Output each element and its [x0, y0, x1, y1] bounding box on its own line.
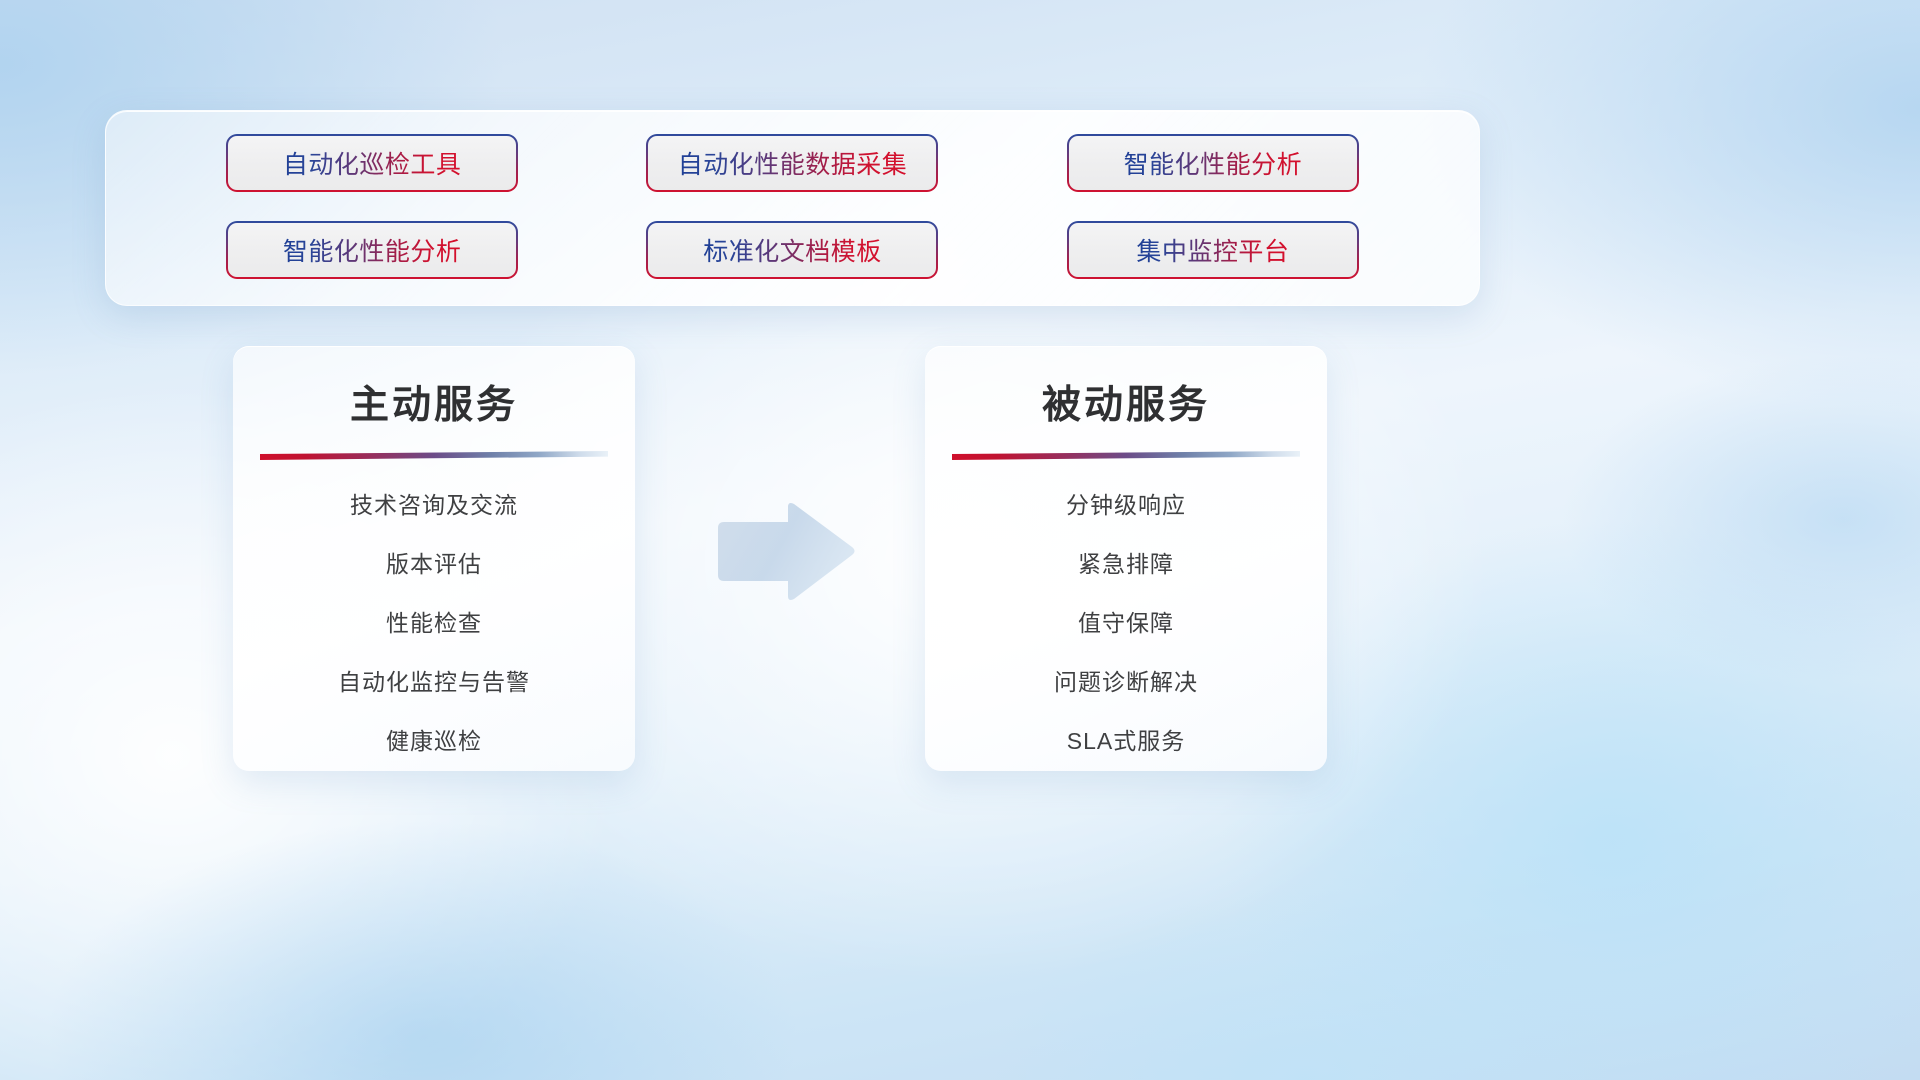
- service-card-proactive: 主动服务 技术咨询及交流 版本评估 性能检查 自动化监控与告警 健康巡检: [233, 346, 635, 771]
- service-card-proactive-divider: [260, 451, 608, 460]
- arrow-right-icon: [712, 500, 857, 605]
- list-item: 分钟级响应: [1066, 494, 1186, 517]
- service-card-proactive-list: 技术咨询及交流 版本评估 性能检查 自动化监控与告警 健康巡检: [259, 494, 609, 753]
- list-item: 自动化监控与告警: [338, 671, 530, 694]
- list-item: 问题诊断解决: [1054, 671, 1198, 694]
- capability-tag-6[interactable]: 集中监控平台: [1067, 221, 1359, 279]
- list-item: 值守保障: [1078, 612, 1174, 635]
- capability-tag-1-surface: 自动化巡检工具: [228, 136, 516, 190]
- capability-tag-2-label: 自动化性能数据采集: [678, 145, 908, 181]
- service-card-proactive-title: 主动服务: [259, 386, 609, 425]
- capability-tag-3[interactable]: 智能化性能分析: [1067, 134, 1359, 192]
- capability-tag-4-label: 智能化性能分析: [283, 232, 462, 268]
- capability-tag-6-label: 集中监控平台: [1136, 232, 1289, 268]
- list-item: 版本评估: [386, 553, 482, 576]
- capability-tag-3-label: 智能化性能分析: [1124, 145, 1303, 181]
- flow-connector: [712, 500, 857, 605]
- list-item: 健康巡检: [386, 730, 482, 753]
- list-item: SLA式服务: [1067, 730, 1185, 753]
- capability-tag-5[interactable]: 标准化文档模板: [646, 221, 938, 279]
- capability-tag-1-label: 自动化巡检工具: [283, 145, 462, 181]
- service-card-reactive-divider: [952, 451, 1300, 460]
- list-item: 紧急排障: [1078, 553, 1174, 576]
- diagram-stage: 自动化巡检工具 自动化性能数据采集 智能化性能分析 智能化性能分析 标准化文档模…: [0, 0, 1920, 1080]
- service-card-reactive: 被动服务 分钟级响应 紧急排障 值守保障 问题诊断解决 SLA式服务: [925, 346, 1327, 771]
- capability-tag-5-label: 标准化文档模板: [703, 232, 882, 268]
- capability-tag-6-surface: 集中监控平台: [1069, 223, 1357, 277]
- capability-tag-2-surface: 自动化性能数据采集: [648, 136, 936, 190]
- list-item: 技术咨询及交流: [350, 494, 518, 517]
- capability-tag-1[interactable]: 自动化巡检工具: [226, 134, 518, 192]
- list-item: 性能检查: [386, 612, 482, 635]
- capability-tag-4-surface: 智能化性能分析: [228, 223, 516, 277]
- capability-tag-2[interactable]: 自动化性能数据采集: [646, 134, 938, 192]
- capability-tag-4[interactable]: 智能化性能分析: [226, 221, 518, 279]
- capability-tag-3-surface: 智能化性能分析: [1069, 136, 1357, 190]
- service-card-reactive-list: 分钟级响应 紧急排障 值守保障 问题诊断解决 SLA式服务: [951, 494, 1301, 753]
- capability-tags-panel: 自动化巡检工具 自动化性能数据采集 智能化性能分析 智能化性能分析 标准化文档模…: [105, 110, 1480, 306]
- capability-tag-5-surface: 标准化文档模板: [648, 223, 936, 277]
- service-card-reactive-title: 被动服务: [951, 386, 1301, 425]
